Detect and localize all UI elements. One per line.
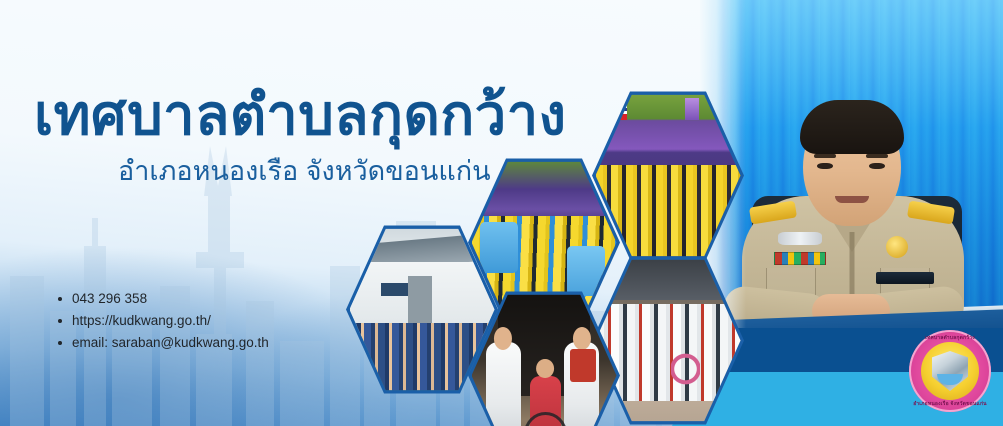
- purple-flag-icon: [685, 98, 699, 120]
- seal-text-top: เทศบาลตำบลกุดกว้าง: [909, 334, 991, 342]
- hex-photo-group-white-shirts-wheelchair[interactable]: [592, 253, 744, 426]
- seal-gold-ring: [921, 342, 979, 400]
- helper-left: [486, 342, 521, 426]
- relief-bag-right: [567, 246, 605, 296]
- relief-bag-left: [480, 222, 518, 272]
- municipality-seal[interactable]: เทศบาลตำบลกุดกว้าง อำเภอหนองเรือ จังหวัด…: [909, 330, 991, 412]
- banner-root: เทศบาลตำบลกุดกว้าง อำเภอหนองเรือ จังหวัด…: [0, 0, 1003, 426]
- wheelchair-icon: [671, 344, 700, 394]
- seal-emblem-icon: [932, 351, 968, 391]
- crowd: [596, 304, 741, 401]
- building-sign: [381, 283, 410, 296]
- seal-text-bottom: อำเภอหนองเรือ จังหวัดขอนแก่น: [909, 400, 991, 408]
- thai-flag-icon: [613, 98, 627, 120]
- red-scarf: [570, 349, 596, 383]
- hexagon-photo-collage: [0, 0, 1003, 426]
- awning: [596, 257, 741, 301]
